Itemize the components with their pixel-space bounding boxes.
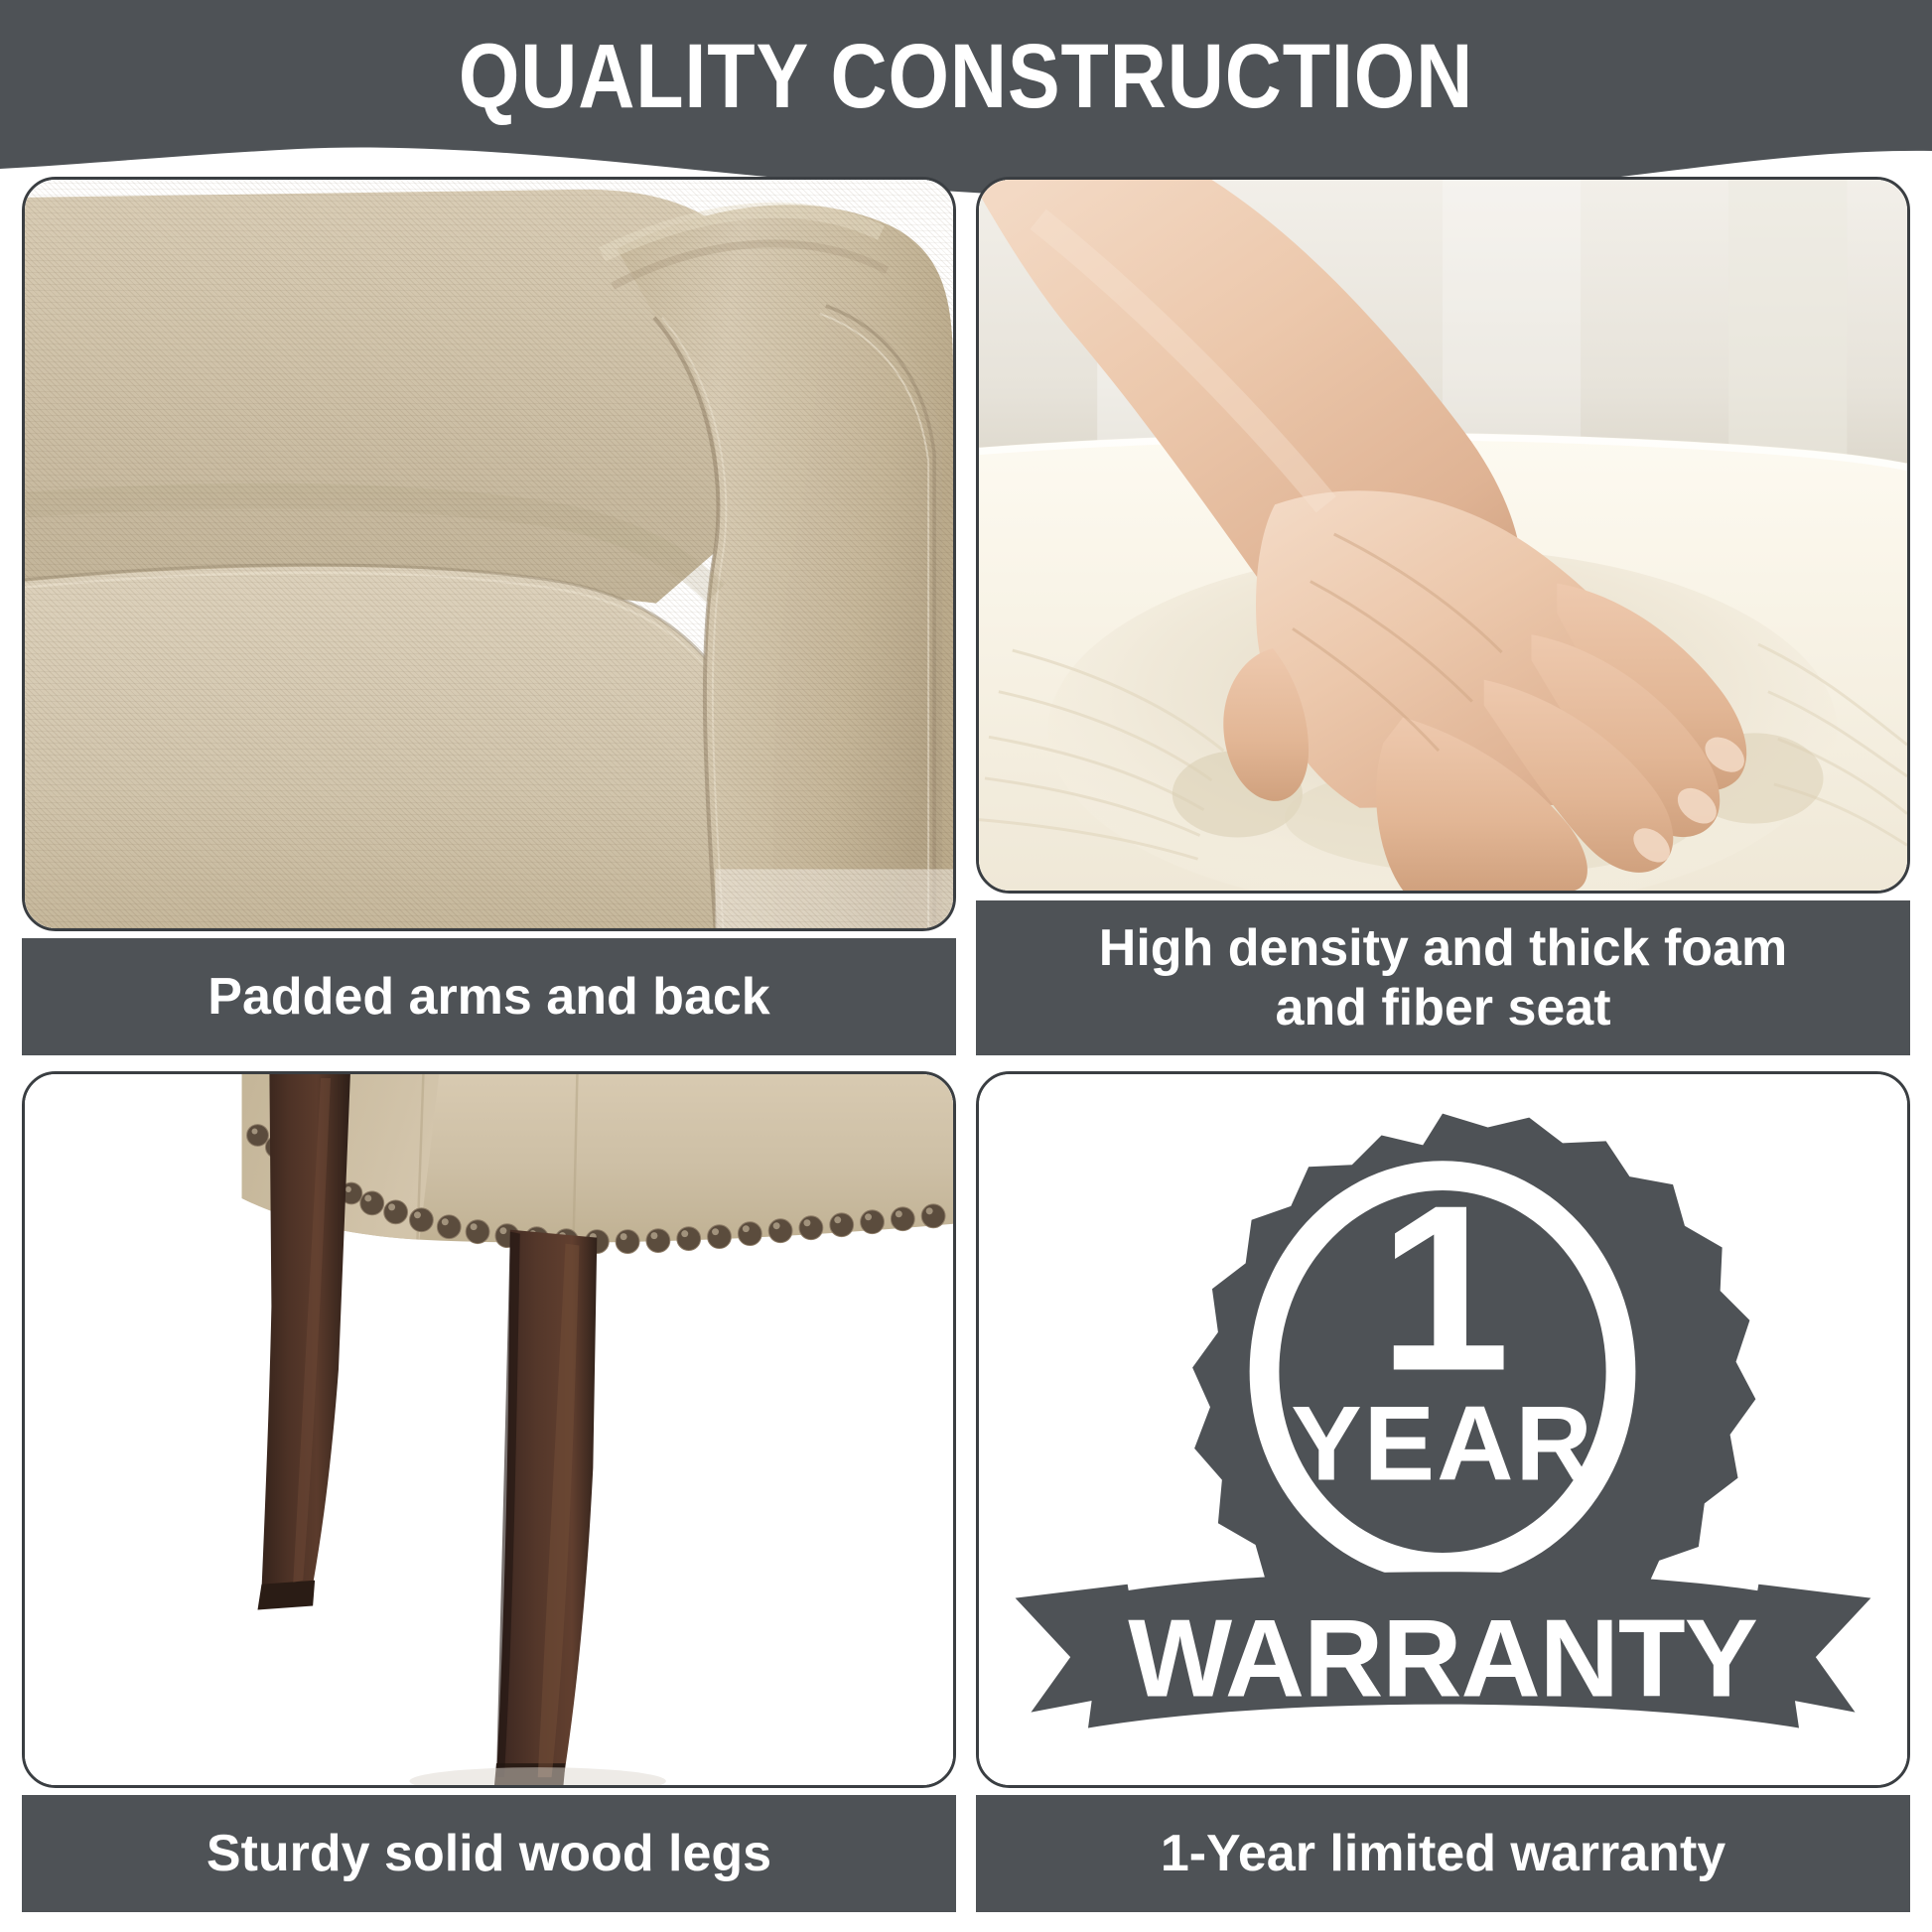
hand-on-foam-illustration <box>979 180 1907 891</box>
warranty-number: 1 <box>1379 1158 1506 1421</box>
caption-warranty-prefix: 1 <box>1161 1825 1189 1882</box>
caption-foam-line-1: High density and thick foam <box>1099 919 1787 977</box>
caption-warranty-rest: -Year limited warranty <box>1189 1825 1725 1882</box>
warranty-period: YEAR <box>1291 1384 1593 1503</box>
feature-panel-grid: Padded arms and back <box>22 177 1910 1910</box>
chair-arm-closeup-photo <box>22 177 956 931</box>
wood-legs-illustration <box>25 1074 953 1785</box>
feature-panel-padded-arms: Padded arms and back <box>22 177 956 1055</box>
caption-foam-line-2: and fiber seat <box>1275 979 1610 1036</box>
warranty-seal-badge: 1 YEAR WARRANTY <box>976 1071 1910 1788</box>
caption-wood-legs: Sturdy solid wood legs <box>22 1795 956 1912</box>
hand-pressing-foam-photo <box>976 177 1910 894</box>
wood-legs-closeup-photo <box>22 1071 956 1788</box>
chair-arm-illustration <box>25 180 953 928</box>
caption-foam-seat: High density and thick foam and fiber se… <box>976 900 1910 1055</box>
warranty-ribbon-label: WARRANTY <box>1128 1596 1757 1721</box>
feature-panel-warranty: 1 YEAR WARRANTY <box>976 1055 1910 1910</box>
caption-warranty: 1-Year limited warranty <box>976 1795 1910 1912</box>
page-title: QUALITY CONSTRUCTION <box>135 27 1797 126</box>
feature-panel-wood-legs: Sturdy solid wood legs <box>22 1055 956 1910</box>
feature-panel-foam-seat: High density and thick foam and fiber se… <box>976 177 1910 1055</box>
warranty-seal-illustration: 1 YEAR WARRANTY <box>979 1074 1907 1785</box>
caption-padded-arms: Padded arms and back <box>22 938 956 1055</box>
